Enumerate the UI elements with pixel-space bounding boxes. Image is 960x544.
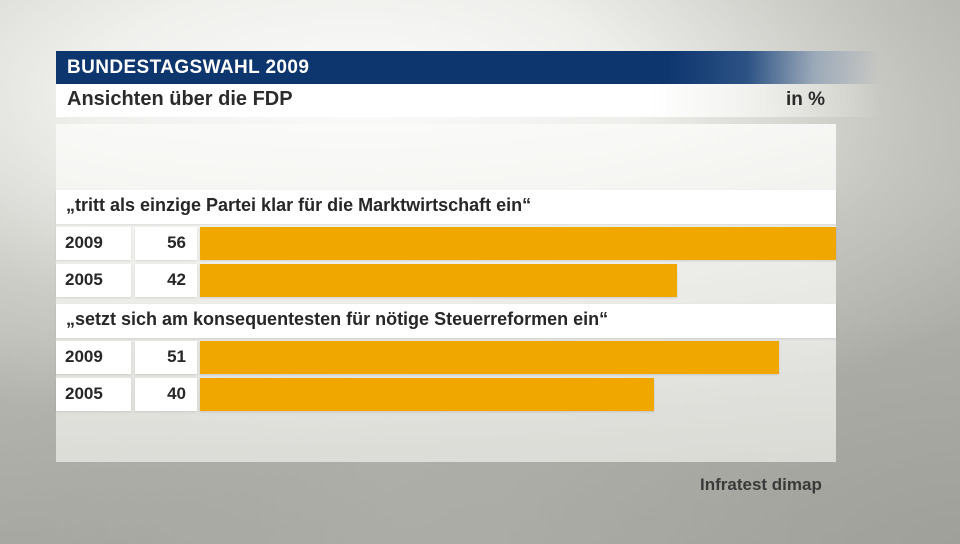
page-title: BUNDESTAGSWAHL 2009	[67, 57, 309, 79]
row-value-label: 40	[167, 384, 186, 404]
chart-row: 200956	[56, 227, 836, 260]
row-value-cell: 51	[135, 341, 197, 374]
row-year-cell: 2005	[56, 378, 131, 411]
question-label: „setzt sich am konsequentesten für nötig…	[56, 304, 836, 338]
title-bar: BUNDESTAGSWAHL 2009	[56, 51, 880, 84]
question-label: „tritt als einzige Partei klar für die M…	[56, 190, 836, 224]
page-subtitle: Ansichten über die FDP	[67, 88, 293, 111]
chart-row: 200542	[56, 264, 836, 297]
question-label-text: „tritt als einzige Partei klar für die M…	[66, 195, 531, 216]
row-year-label: 2005	[65, 270, 103, 290]
header-block: BUNDESTAGSWAHL 2009 Ansichten über die F…	[56, 51, 880, 117]
chart-row: 200951	[56, 341, 836, 374]
value-bar	[200, 341, 779, 374]
row-year-cell: 2009	[56, 227, 131, 260]
row-value-cell: 56	[135, 227, 197, 260]
value-bar	[200, 264, 677, 297]
question-label-text: „setzt sich am konsequentesten für nötig…	[66, 309, 608, 330]
row-value-label: 56	[167, 233, 186, 253]
value-bar	[200, 378, 654, 411]
row-year-label: 2005	[65, 384, 103, 404]
row-value-cell: 42	[135, 264, 197, 297]
row-year-cell: 2005	[56, 264, 131, 297]
chart-row: 200540	[56, 378, 836, 411]
source-credit: Infratest dimap	[700, 475, 822, 495]
infographic-stage: BUNDESTAGSWAHL 2009 Ansichten über die F…	[0, 0, 960, 544]
unit-label: in %	[786, 89, 825, 111]
row-year-label: 2009	[65, 233, 103, 253]
row-year-label: 2009	[65, 347, 103, 367]
row-value-cell: 40	[135, 378, 197, 411]
row-value-label: 51	[167, 347, 186, 367]
subtitle-bar: Ansichten über die FDP in %	[56, 84, 880, 117]
value-bar	[200, 227, 836, 260]
row-value-label: 42	[167, 270, 186, 290]
row-year-cell: 2009	[56, 341, 131, 374]
